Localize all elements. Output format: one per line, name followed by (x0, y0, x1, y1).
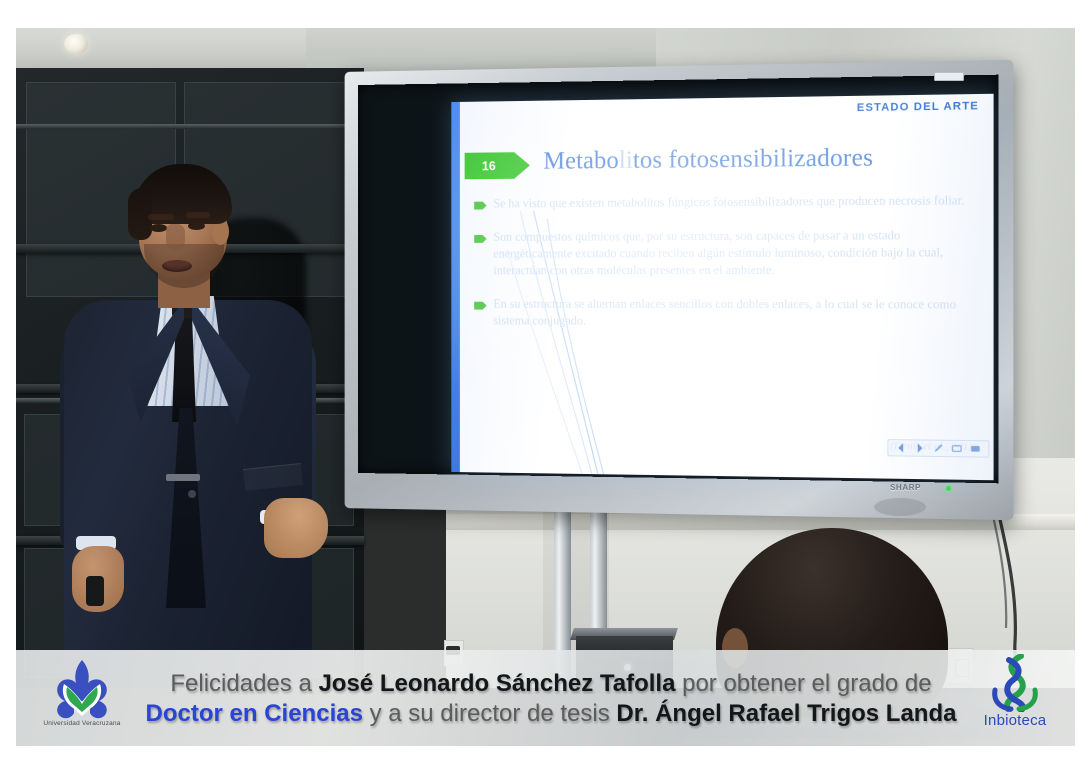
slide-bullet: Se ha visto que existen metabolitos fúng… (472, 192, 978, 212)
display-brand-logo: SHARP (890, 483, 921, 492)
display-power-led-icon (946, 486, 951, 491)
next-arrow-icon[interactable] (914, 442, 925, 453)
bullet-text: En su estructura se alternan enlaces sen… (493, 296, 978, 331)
presentation-slide[interactable]: ESTADO DEL ARTE 16 Metabolitos fotosensi… (451, 94, 993, 480)
ceiling-light-icon (64, 34, 88, 54)
slide-number-chevron: 16 (465, 152, 530, 179)
cabinet-rail (16, 124, 364, 129)
uv-fleur-de-lis-icon (30, 658, 134, 724)
bullet-chevron-icon (474, 202, 486, 210)
slide-section-header: ESTADO DEL ARTE (857, 100, 979, 114)
slide-bullet: Son compuestos químicos que, por su estr… (472, 227, 978, 279)
universidad-veracruzana-logo: Universidad Veracruzana (30, 658, 134, 740)
slide-title-part1: Metabo (543, 147, 618, 174)
bullet-text: Son compuestos químicos que, por su estr… (493, 227, 978, 279)
slide-bullet-list: Se ha visto que existen metabolitos fúng… (472, 192, 978, 348)
banner-advisor-name: Dr. Ángel Rafael Trigos Landa (616, 700, 956, 727)
banner-text-block: Felicidades a José Leonardo Sánchez Tafo… (136, 660, 966, 738)
banner-seg-felicidades: Felicidades a (170, 670, 318, 697)
display-ir-sensor (874, 498, 926, 516)
display-bezel-label (934, 72, 964, 81)
presentation-clicker-icon (86, 576, 104, 606)
bullet-text: Se ha visto que existen metabolitos fúng… (493, 192, 978, 212)
banner-seg-por-obtener: por obtener el grado de (675, 670, 931, 697)
slide-number: 16 (465, 158, 496, 173)
presenter-nose (166, 224, 185, 250)
presentation-toolbar[interactable] (887, 439, 989, 458)
slide-title-part2: tos fotosensibilizadores (633, 144, 873, 174)
uv-logo-caption: Universidad Veracruzana (36, 720, 128, 727)
menu-icon[interactable] (970, 443, 981, 454)
presenter-eye (150, 224, 167, 232)
presenter-jacket-button (188, 490, 196, 498)
event-photograph: ESTADO DEL ARTE 16 Metabolitos fotosensi… (16, 28, 1075, 746)
congratulations-banner: Felicidades a José Leonardo Sánchez Tafo… (16, 650, 1075, 746)
banner-degree: Doctor en Ciencias (146, 700, 363, 727)
inbioteca-logo: Inbioteca (965, 654, 1065, 740)
inbioteca-logo-caption: Inbioteca (965, 712, 1065, 729)
prev-arrow-icon[interactable] (896, 442, 907, 453)
presenter-eyebrow (186, 212, 210, 218)
pen-icon[interactable] (933, 443, 944, 454)
slide-bullet: En su estructura se alternan enlaces sen… (472, 296, 978, 331)
banner-seg-director: y a su director de tesis (363, 700, 616, 727)
inbioteca-flame-icon (965, 654, 1065, 712)
sharp-interactive-display[interactable]: ESTADO DEL ARTE 16 Metabolitos fotosensi… (334, 66, 1006, 514)
slide-title-faded: li (619, 147, 633, 174)
bullet-chevron-icon (474, 302, 486, 310)
banner-line-1: Felicidades a José Leonardo Sánchez Tafo… (170, 670, 931, 698)
presenter-eyebrow (148, 214, 174, 220)
presenter-gesturing-hand (264, 498, 328, 558)
presenter-belt-buckle (166, 474, 200, 481)
screenshot-root: ESTADO DEL ARTE 16 Metabolitos fotosensi… (0, 0, 1090, 760)
screen-icon[interactable] (951, 443, 962, 454)
banner-graduate-name: José Leonardo Sánchez Tafolla (318, 670, 675, 697)
slide-left-accent-bar (451, 102, 460, 472)
banner-line-2: Doctor en Ciencias y a su director de te… (146, 700, 957, 728)
presenter-eye (188, 222, 205, 230)
bullet-chevron-icon (474, 235, 486, 243)
slide-title: Metabolitos fotosensibilizadores (543, 144, 873, 175)
presenter-mouth (162, 260, 192, 272)
